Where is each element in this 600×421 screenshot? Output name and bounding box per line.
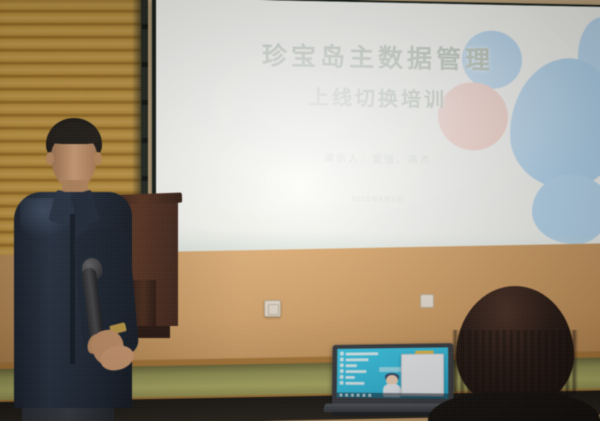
desktop-icon-label	[345, 370, 366, 373]
laptop-taskbar[interactable]	[337, 393, 449, 399]
slide-decor-blue-lower-shape	[532, 174, 600, 246]
laptop-screen[interactable]	[337, 347, 449, 398]
laptop-lid	[332, 343, 454, 407]
desktop-icon-item[interactable]	[340, 357, 382, 361]
file-icon	[340, 381, 344, 385]
slat-post-notch	[142, 100, 148, 105]
presentation-photo-scene: 珍宝岛主数据管理 上线切换培训 演示人：富强、高杰 2023年6月9日	[0, 0, 600, 421]
presenter-ear-left	[46, 152, 54, 165]
slat-post-notch	[142, 24, 148, 29]
desktop-icon-label	[346, 358, 369, 361]
desktop-icon-item[interactable]	[340, 381, 382, 385]
taskbar-icon[interactable]	[368, 394, 371, 397]
laptop-desktop-icons[interactable]	[340, 351, 383, 387]
desktop-icon-label	[346, 352, 379, 355]
desktop-icon-label	[345, 375, 355, 378]
file-icon	[340, 352, 344, 356]
taskbar-icon[interactable]	[345, 394, 348, 397]
slide-title: 珍宝岛主数据管理	[156, 34, 600, 79]
presenter-ear-right	[94, 152, 102, 165]
presentation-slide: 珍宝岛主数据管理 上线切换培训 演示人：富强、高杰 2023年6月9日	[156, 0, 600, 263]
desktop-icon-item[interactable]	[340, 369, 382, 373]
wall-outlet-left	[264, 300, 281, 317]
desktop-icon-item[interactable]	[340, 363, 382, 367]
presenter-figure	[6, 118, 146, 408]
desktop-icon-label	[345, 381, 364, 384]
slide-date-line: 2023年6月9日	[156, 190, 600, 209]
desktop-icon-label	[346, 364, 357, 367]
desktop-icon-item[interactable]	[340, 351, 382, 355]
slat-post-notch	[142, 62, 148, 67]
file-icon	[340, 369, 344, 373]
file-icon	[340, 375, 344, 379]
taskbar-icon[interactable]	[351, 394, 354, 397]
file-icon	[340, 357, 344, 361]
taskbar-icon[interactable]	[340, 394, 343, 397]
taskbar-icon[interactable]	[362, 394, 365, 397]
wall-outlet-right	[420, 294, 434, 308]
projection-screen-surface: 珍宝岛主数据管理 上线切换培训 演示人：富强、高杰 2023年6月9日	[156, 0, 600, 263]
document-window[interactable]	[401, 354, 444, 397]
presenter-shirt-placket	[70, 214, 75, 364]
taskbar-icon[interactable]	[357, 394, 360, 397]
desktop-icon-item[interactable]	[340, 375, 382, 379]
file-icon	[340, 363, 344, 367]
